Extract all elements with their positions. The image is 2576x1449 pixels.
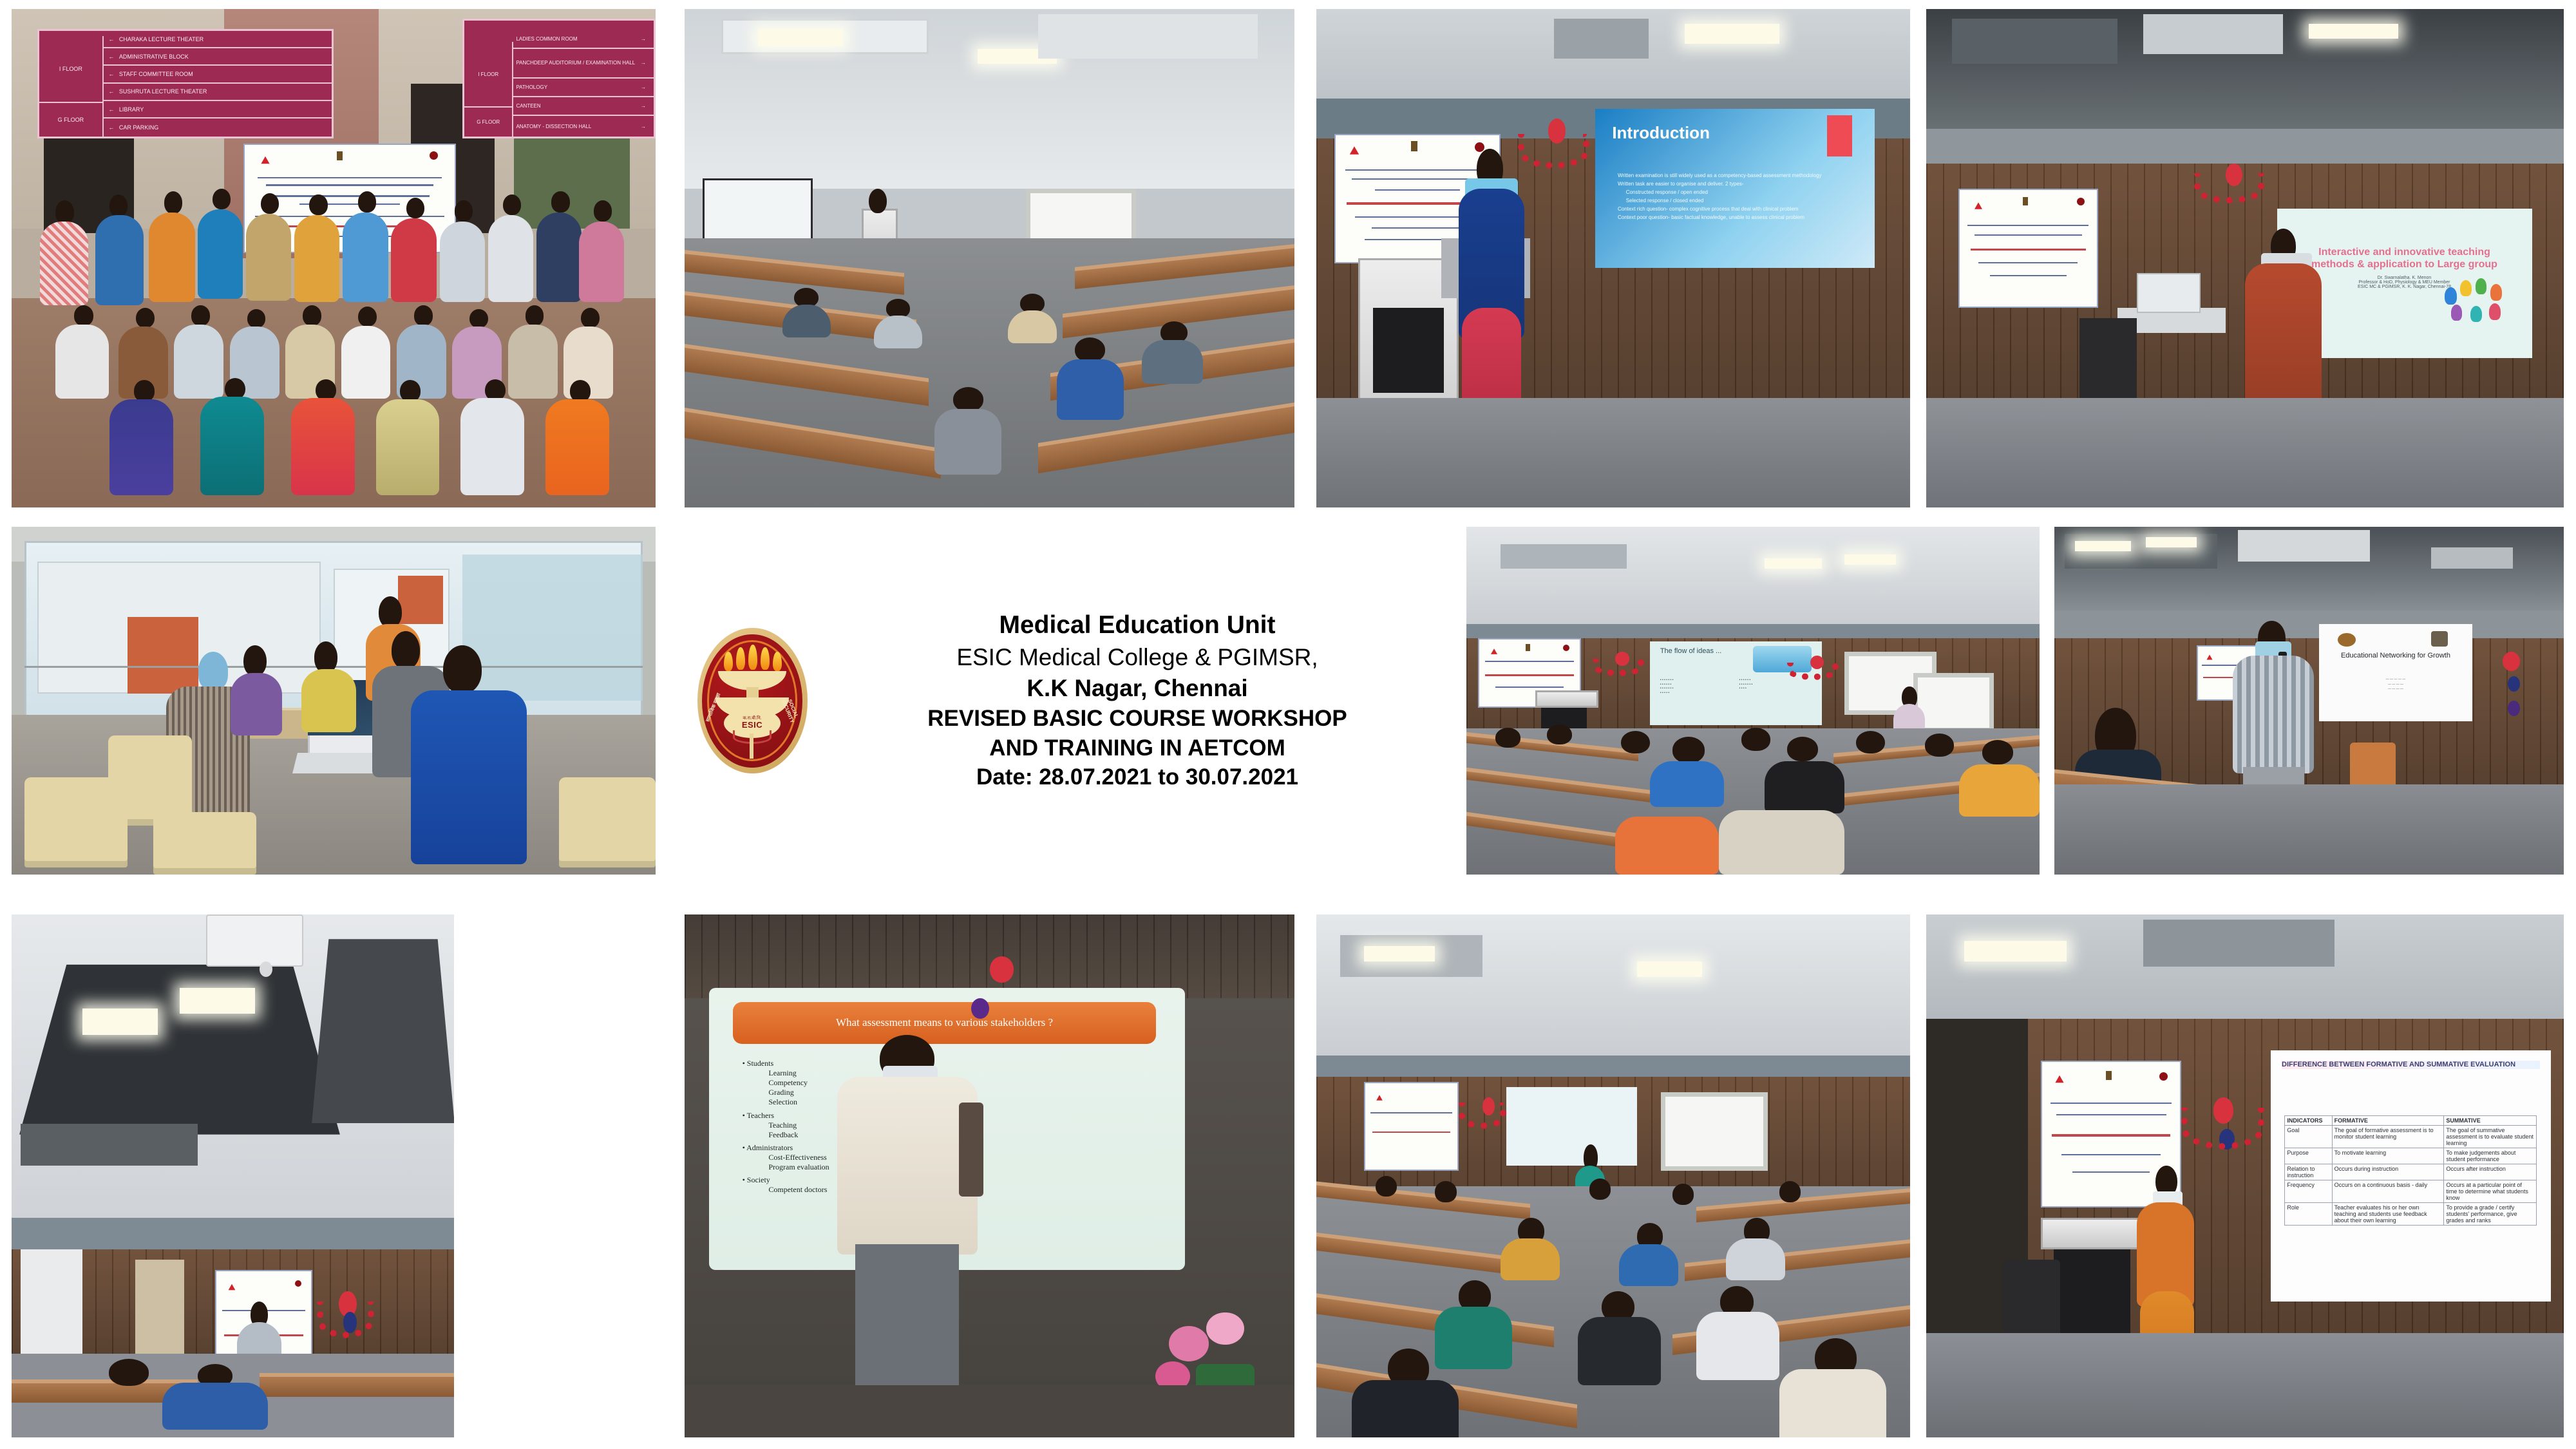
slide-title: DIFFERENCE BETWEEN FORMATIVE AND SUMMATI… — [2282, 1061, 2540, 1069]
title-card-text: Medical Education Unit ESIC Medical Coll… — [813, 609, 1457, 791]
table-cell: Occurs on a continuous basis - daily — [2332, 1180, 2444, 1203]
sign-row-label: CHARAKA LECTURE THEATER — [119, 36, 204, 43]
table-cell: To motivate learning — [2332, 1148, 2444, 1164]
slide-bullet: Context poor question- basic factual kno… — [1618, 214, 1858, 221]
sign-row-label: CAR PARKING — [119, 124, 158, 131]
slide-group-item: Learning — [768, 1068, 1160, 1078]
sign-row-label: ADMINISTRATIVE BLOCK — [119, 53, 189, 60]
slide-title: The flow of ideas ... — [1660, 647, 1721, 655]
slide-bullet: Constructed response / open ended — [1626, 189, 1858, 196]
arrow-icon: ← — [104, 71, 119, 77]
arrow-icon: ← — [104, 53, 119, 60]
card-line-location: K.K Nagar, Chennai — [817, 673, 1457, 704]
slide-bullet: Context rich question- complex cognitive… — [1618, 206, 1858, 213]
projection-slide-introduction: Introduction Written examination is stil… — [1595, 109, 1874, 269]
arrow-icon: → — [636, 103, 651, 109]
arrow-icon: ← — [104, 88, 119, 95]
title-card: क.रा.बी.नि. ESIC SOCIAL SECURITY सामाजिक… — [685, 527, 1464, 875]
photo-hall-participants — [1316, 914, 1910, 1437]
table-cell: Purpose — [2285, 1148, 2332, 1164]
sign-row-label: SUSHRUTA LECTURE THEATER — [119, 88, 207, 95]
arrow-icon: ← — [104, 106, 119, 113]
table-cell: Occurs during instruction — [2332, 1164, 2444, 1180]
sign-row-label: ANATOMY - DISSECTION HALL — [516, 124, 591, 129]
table-row: Purpose To motivate learning To make jud… — [2285, 1148, 2537, 1164]
projection-slide-flow-of-ideas: The flow of ideas ... • • • • • • •• • •… — [1650, 641, 1822, 725]
table-cell: To provide a grade / certify students' p… — [2444, 1203, 2537, 1226]
table-row: Frequency Occurs on a continuous basis -… — [2285, 1180, 2537, 1203]
sign-floor-label: G FLOOR — [464, 106, 513, 137]
ceiling-projector — [206, 914, 303, 967]
table-header-row: INDICATORS FORMATIVE SUMMATIVE — [2285, 1116, 2537, 1126]
wall-banner — [1958, 189, 2099, 308]
photo-auditorium-session: The flow of ideas ... • • • • • • •• • •… — [1466, 527, 2040, 875]
slide-bullet: Written examination is still widely used… — [1618, 173, 1858, 179]
table-row: Relation to instruction Occurs during in… — [2285, 1164, 2537, 1180]
card-line-medical-education-unit: Medical Education Unit — [817, 609, 1457, 642]
table-col-header: FORMATIVE — [2332, 1116, 2444, 1126]
card-line-date: Date: 28.07.2021 to 30.07.2021 — [817, 762, 1457, 792]
photo-stakeholders-talk: What assessment means to various stakeho… — [685, 914, 1294, 1437]
arrow-icon: → — [636, 61, 651, 66]
sign-floor-label: G FLOOR — [39, 102, 104, 137]
sign-row-label: CANTEEN — [516, 103, 540, 109]
slide-bullet: Written task are easier to organise and … — [1618, 181, 1858, 187]
table-cell: The goal of summative assessment is to e… — [2444, 1126, 2537, 1148]
card-line-college: ESIC Medical College & PGIMSR, — [817, 642, 1457, 673]
photo-networking-talk: Educational Networking for Growth — — — … — [2054, 527, 2564, 875]
directional-sign-left: I FLOOR G FLOOR ← CHARAKA LECTURE THEATE… — [37, 29, 334, 138]
table-cell: Occurs after instruction — [2444, 1164, 2537, 1180]
arrow-icon: → — [636, 84, 651, 90]
sign-row-label: PANCHDEEP AUDITORIUM / EXAMINATION HALL — [516, 61, 635, 66]
people-group-icon — [2440, 277, 2517, 328]
table-cell: The goal of formative assessment is to m… — [2332, 1126, 2444, 1148]
table-cell: Role — [2285, 1203, 2332, 1226]
whiteboard — [1661, 1092, 1768, 1171]
table-cell: Occurs at a particular point of time to … — [2444, 1180, 2537, 1203]
directional-sign-right: I FLOOR G FLOOR LADIES COMMON ROOM → PAN… — [462, 19, 656, 138]
slide-title: Introduction — [1612, 123, 1710, 143]
photo-group-photo: I FLOOR G FLOOR ← CHARAKA LECTURE THEATE… — [12, 9, 656, 507]
slide-group-label: Students — [743, 1059, 1161, 1068]
slide-bullet: Selected response / closed ended — [1626, 198, 1858, 204]
projection-screen — [1506, 1087, 1637, 1166]
table-row: Role Teacher evaluates his or her own te… — [2285, 1203, 2537, 1226]
photo-speaker-at-podium: Introduction Written examination is stil… — [1316, 9, 1910, 507]
slide-title: Educational Networking for Growth — [2331, 652, 2459, 661]
table-cell: Goal — [2285, 1126, 2332, 1148]
table-cell: Relation to instruction — [2285, 1164, 2332, 1180]
table-cell: Teacher evaluates his or her own teachin… — [2332, 1203, 2444, 1226]
arrow-icon: → — [636, 124, 651, 129]
photo-projector-room-wide — [12, 914, 454, 1437]
arrow-icon: ← — [104, 124, 119, 131]
table-cell: Frequency — [2285, 1180, 2332, 1203]
projection-slide-networking: Educational Networking for Growth — — — … — [2319, 624, 2472, 721]
photo-interactive-teaching-talk: Interactive and innovative teaching meth… — [1926, 9, 2564, 507]
photo-group-work-corridor — [12, 527, 656, 875]
arrow-icon: ← — [104, 36, 119, 43]
table-cell: To make judgements about student perform… — [2444, 1148, 2537, 1164]
projection-slide-formative-summative: DIFFERENCE BETWEEN FORMATIVE AND SUMMATI… — [2271, 1050, 2552, 1302]
slide-accent-bar — [1827, 115, 1852, 156]
photo-collage: I FLOOR G FLOOR ← CHARAKA LECTURE THEATE… — [0, 0, 2576, 1449]
wall-banner — [1364, 1082, 1459, 1171]
slide-title: Interactive and innovative teaching meth… — [2309, 247, 2500, 271]
arrow-icon: → — [636, 36, 651, 42]
photo-formative-summative-talk: DIFFERENCE BETWEEN FORMATIVE AND SUMMATI… — [1926, 914, 2564, 1437]
table-col-header: INDICATORS — [2285, 1116, 2332, 1126]
table-col-header: SUMMATIVE — [2444, 1116, 2537, 1126]
esic-initials: ESIC — [742, 721, 762, 730]
photo-auditorium-wide — [685, 9, 1294, 507]
comparison-table: INDICATORS FORMATIVE SUMMATIVE Goal The … — [2284, 1115, 2537, 1226]
card-line-workshop: REVISED BASIC COURSE WORKSHOP — [817, 704, 1457, 734]
sign-row-label: LIBRARY — [119, 106, 144, 113]
sign-row-label: PATHOLOGY — [516, 84, 547, 90]
sign-floor-label: I FLOOR — [464, 42, 513, 107]
sign-row-label: STAFF COMMITTEE ROOM — [119, 71, 193, 77]
sign-floor-label: I FLOOR — [39, 36, 104, 102]
sign-row-label: LADIES COMMON ROOM — [516, 36, 577, 42]
slide-title: What assessment means to various stakeho… — [733, 1002, 1156, 1045]
esic-logo: क.रा.बी.नि. ESIC SOCIAL SECURITY सामाजिक… — [691, 627, 813, 775]
card-line-aetcom: AND TRAINING IN AETCOM — [817, 734, 1457, 763]
table-row: Goal The goal of formative assessment is… — [2285, 1126, 2537, 1148]
